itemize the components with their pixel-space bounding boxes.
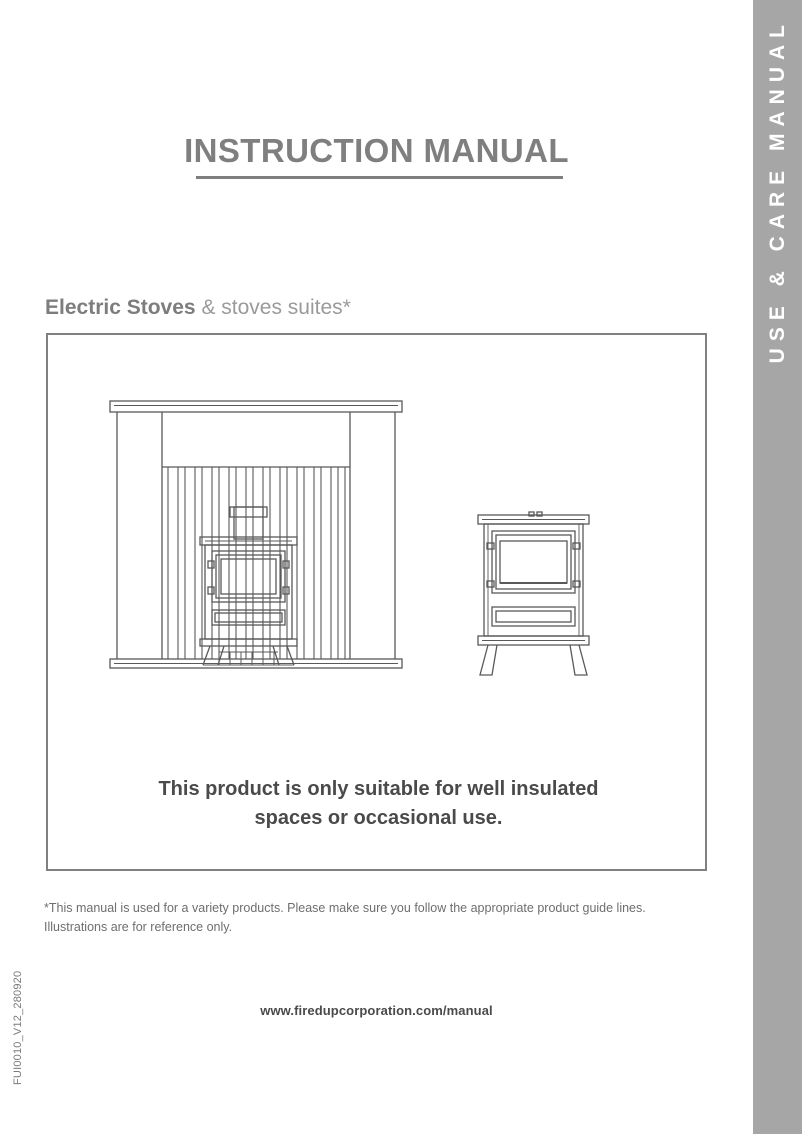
subtitle-light-part: & stoves suites* (201, 296, 350, 319)
warning-line-1: This product is only suitable for well i… (68, 775, 689, 804)
footnote: *This manual is used for a variety produ… (44, 899, 700, 938)
footnote-line-1: *This manual is used for a variety produ… (44, 901, 534, 915)
electric-stove-suite-illustration (106, 397, 406, 672)
warning-line-2: spaces or occasional use. (68, 804, 689, 833)
document-code: FUI0010_V12_280920 (12, 955, 32, 1085)
product-box: This product is only suitable for well i… (46, 333, 707, 871)
page-title: INSTRUCTION MANUAL (0, 132, 753, 170)
manual-cover-page: USE & CARE MANUAL FUI0010_V12_280920 INS… (0, 0, 802, 1134)
subtitle: Electric Stoves & stoves suites* (45, 296, 351, 320)
subtitle-bold-part: Electric Stoves (45, 296, 196, 319)
manual-url[interactable]: www.firedupcorporation.com/manual (46, 1003, 707, 1018)
illustration-area (48, 335, 709, 755)
warning-text: This product is only suitable for well i… (68, 775, 689, 833)
title-underline (196, 176, 563, 179)
side-bar-label: USE & CARE MANUAL (753, 0, 802, 1134)
side-bar: USE & CARE MANUAL (753, 0, 802, 1134)
electric-stove-freestanding-illustration (466, 503, 601, 683)
